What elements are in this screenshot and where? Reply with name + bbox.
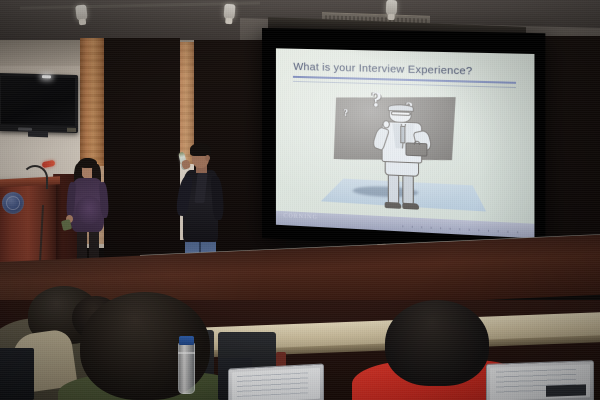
laptop-screen-content — [237, 372, 307, 397]
ceiling-spotlight-1 — [75, 4, 88, 21]
water-bottle — [178, 342, 195, 394]
laptop-silver-front-screen — [232, 368, 320, 400]
figure-leg-right — [403, 174, 414, 205]
slide-illustration: ? ? ? — [321, 88, 486, 213]
slide-footer-ticks — [402, 225, 523, 233]
slide-surface: What is your Interview Experience? ? ? ? — [276, 48, 535, 238]
tv-wall-mount — [28, 131, 48, 138]
institution-emblem-icon — [2, 192, 24, 214]
slide-title: What is your Interview Experience? — [293, 61, 472, 78]
laptop-right-screen-window — [546, 384, 586, 397]
figure-shoe-left — [385, 201, 402, 208]
slide-footer-bar: CORNING — [276, 211, 535, 239]
laptop-silver-front — [228, 363, 324, 400]
figure-leg-left — [388, 173, 399, 204]
tv-screen — [1, 76, 75, 126]
tv-indicator-light-icon — [42, 75, 51, 78]
laptop-silver-right — [486, 360, 594, 400]
figure-necktie — [400, 125, 405, 143]
audience-4-head — [385, 300, 489, 386]
gooseneck-mic-stem — [22, 165, 48, 189]
figure-hand-on-chin — [382, 120, 390, 128]
question-mark-icon-small: ? — [343, 108, 348, 118]
man-ear — [205, 155, 210, 161]
figure-shoe-right — [402, 202, 419, 209]
laptop-silver-right-screen — [490, 364, 590, 400]
woman-dress-highlight — [76, 196, 102, 224]
ceiling-spotlight-3 — [386, 0, 398, 16]
figure-glasses-icon — [391, 111, 411, 115]
wood-column-left — [80, 38, 106, 166]
projection-screen: What is your Interview Experience? ? ? ? — [262, 28, 545, 254]
lecture-hall-photo: What is your Interview Experience? ? ? ? — [0, 0, 600, 400]
wall-panel-dark-center — [104, 38, 180, 268]
figure-briefcase — [405, 142, 428, 156]
water-bottle-cap — [179, 336, 194, 345]
ceiling-spotlight-2 — [223, 4, 235, 21]
laptop-left-edge — [0, 348, 34, 400]
wall-mounted-tv — [0, 73, 78, 133]
water-bottle-ring — [178, 352, 195, 354]
tv-corner-badge — [67, 128, 76, 132]
illustration-businessman-figure — [369, 104, 445, 209]
slide-footer-text: CORNING — [283, 213, 318, 221]
